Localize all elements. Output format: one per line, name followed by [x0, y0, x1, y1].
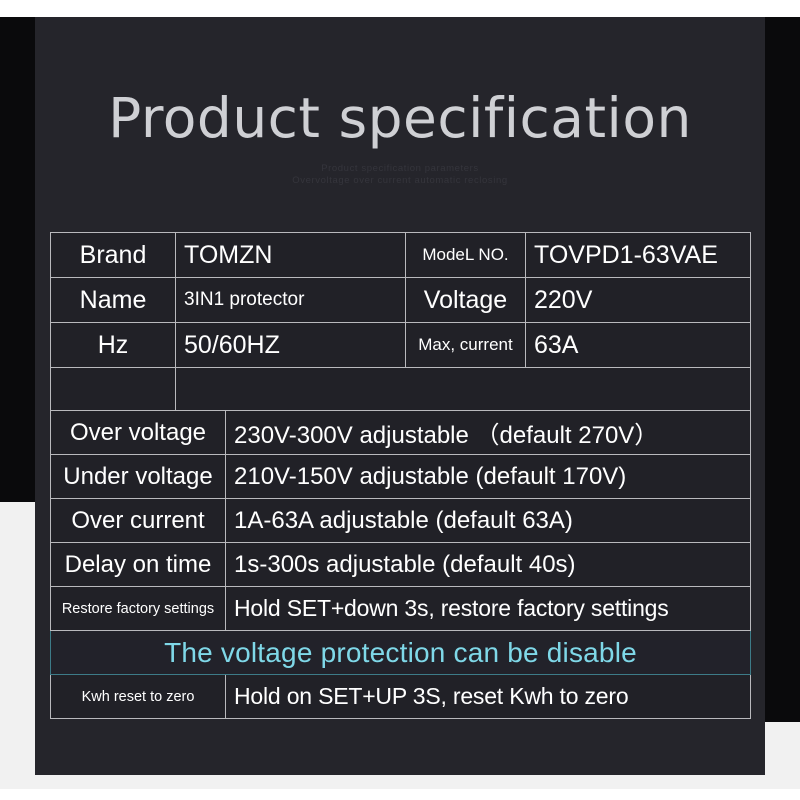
- cell-label-voltage: Voltage: [406, 278, 526, 323]
- cell-label-name: Name: [51, 278, 176, 323]
- table-row: Over voltage 230V-300V adjustable （defau…: [51, 411, 751, 455]
- cell-label-max-current: Max, current: [406, 323, 526, 368]
- cell-label-brand: Brand: [51, 233, 176, 278]
- table-row: Hz 50/60HZ Max, current 63A: [51, 323, 751, 368]
- cell-value-voltage: 220V: [526, 278, 751, 323]
- cell-value-restore-factory-settings: Hold SET+down 3s, restore factory settin…: [226, 587, 751, 631]
- page-subtitle: Product specification parameters Overvol…: [35, 163, 765, 187]
- subtitle-line-2: Overvoltage over current automatic reclo…: [35, 175, 765, 187]
- cell-empty-label: [51, 368, 176, 413]
- cell-value-model-no: TOVPD1-63VAE: [526, 233, 751, 278]
- cell-value-kwh-reset: Hold on SET+UP 3S, reset Kwh to zero: [226, 675, 751, 719]
- table-row: Brand TOMZN ModeL NO. TOVPD1-63VAE: [51, 233, 751, 278]
- spec-table-upper: Brand TOMZN ModeL NO. TOVPD1-63VAE Name …: [50, 232, 751, 413]
- cell-value-under-voltage: 210V-150V adjustable (default 170V): [226, 455, 751, 499]
- cell-label-model-no: ModeL NO.: [406, 233, 526, 278]
- table-row: Under voltage 210V-150V adjustable (defa…: [51, 455, 751, 499]
- cell-label-over-current: Over current: [51, 499, 226, 543]
- cell-label-delay-on-time: Delay on time: [51, 543, 226, 587]
- cell-label-restore-factory-settings: Restore factory settings: [51, 587, 226, 631]
- cell-label-kwh-reset: Kwh reset to zero: [51, 675, 226, 719]
- cell-value-over-voltage: 230V-300V adjustable （default 270V）: [226, 411, 751, 455]
- cell-value-delay-on-time: 1s-300s adjustable (default 40s): [226, 543, 751, 587]
- subtitle-line-1: Product specification parameters: [35, 163, 765, 175]
- cell-value-over-current: 1A-63A adjustable (default 63A): [226, 499, 751, 543]
- cell-voltage-protection-disable-note: The voltage protection can be disable: [51, 631, 751, 675]
- table-row: Restore factory settings Hold SET+down 3…: [51, 587, 751, 631]
- table-row-empty: [51, 368, 751, 413]
- left-gray-bar: [0, 502, 35, 785]
- table-row: Delay on time 1s-300s adjustable (defaul…: [51, 543, 751, 587]
- cell-label-under-voltage: Under voltage: [51, 455, 226, 499]
- spec-table-lower: Over voltage 230V-300V adjustable （defau…: [50, 410, 751, 719]
- cell-value-hz: 50/60HZ: [176, 323, 406, 368]
- table-row: Name 3IN1 protector Voltage 220V: [51, 278, 751, 323]
- cell-label-over-voltage: Over voltage: [51, 411, 226, 455]
- cell-value-max-current: 63A: [526, 323, 751, 368]
- cell-label-hz: Hz: [51, 323, 176, 368]
- cell-value-name: 3IN1 protector: [176, 278, 406, 323]
- table-row: Kwh reset to zero Hold on SET+UP 3S, res…: [51, 675, 751, 719]
- top-white-strip: [0, 0, 800, 17]
- right-black-bar: [765, 17, 800, 722]
- left-black-bar: [0, 17, 35, 502]
- page-title: Product specification: [35, 91, 765, 146]
- product-specification-image: Product specification Product specificat…: [0, 0, 800, 800]
- cell-empty-value: [176, 368, 751, 413]
- bottom-gray-strip: [0, 775, 800, 789]
- table-row-highlight: The voltage protection can be disable: [51, 631, 751, 675]
- bottom-white-strip: [0, 789, 800, 800]
- table-row: Over current 1A-63A adjustable (default …: [51, 499, 751, 543]
- header-section: Product specification Product specificat…: [35, 17, 765, 212]
- cell-value-brand: TOMZN: [176, 233, 406, 278]
